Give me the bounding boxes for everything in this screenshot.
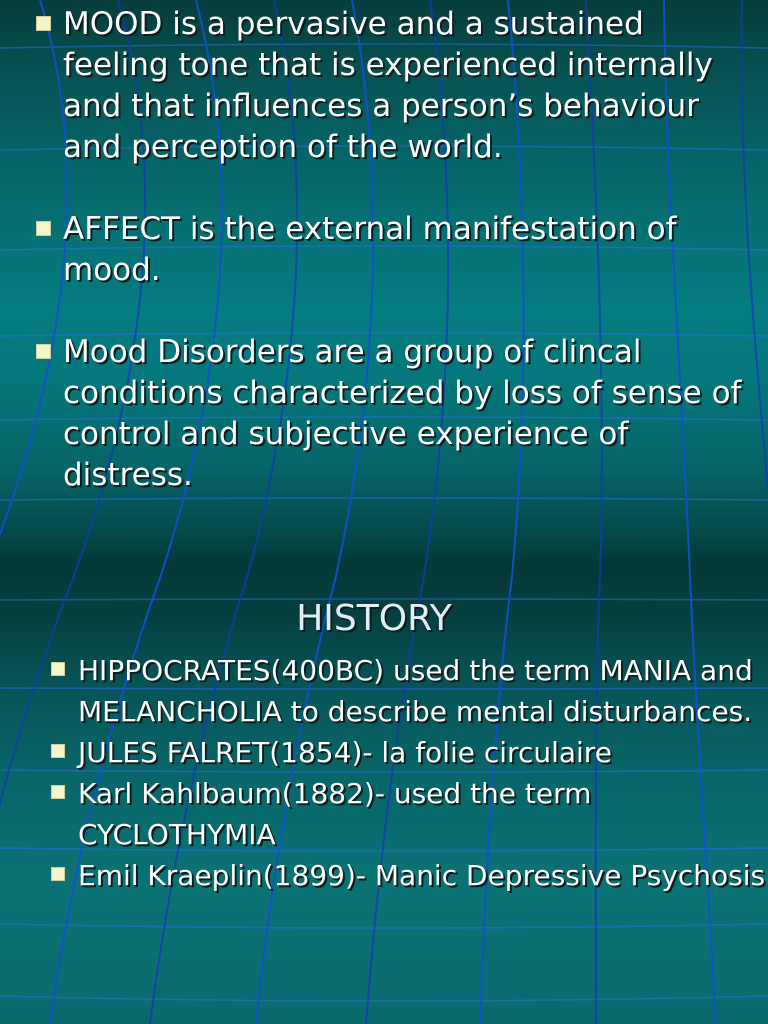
square-bullet-icon <box>51 867 65 881</box>
list-item: Emil Kraeplin(1899)- Manic Depressive Ps… <box>40 855 768 896</box>
definitions-bullet-list: MOOD is a pervasive and a sustained feel… <box>26 4 752 496</box>
square-bullet-icon <box>36 344 51 359</box>
list-item: MOOD is a pervasive and a sustained feel… <box>26 4 752 168</box>
history-block: HISTORY HIPPOCRATES(400BC) used the term… <box>0 596 768 896</box>
square-bullet-icon <box>51 785 65 799</box>
list-item: AFFECT is the external manifestation of … <box>26 209 752 291</box>
page-title: HISTORY <box>0 596 768 642</box>
bullet-text: AFFECT is the external manifestation of … <box>63 209 752 291</box>
square-bullet-icon <box>51 744 65 758</box>
list-item: Karl Kahlbaum(1882)- used the term CYCLO… <box>40 773 768 855</box>
bullet-text: Mood Disorders are a group of clincal co… <box>63 332 752 496</box>
bullet-text: MOOD is a pervasive and a sustained feel… <box>63 4 752 168</box>
square-bullet-icon <box>51 662 65 676</box>
slide-content: MOOD is a pervasive and a sustained feel… <box>0 0 768 1024</box>
list-item: JULES FALRET(1854)- la folie circulaire <box>40 732 768 773</box>
paragraph-spacer <box>26 291 752 332</box>
paragraph-spacer <box>26 168 752 209</box>
list-item: Mood Disorders are a group of clincal co… <box>26 332 752 496</box>
history-bullet-list: HIPPOCRATES(400BC) used the term MANIA a… <box>0 650 768 896</box>
bullet-text: HIPPOCRATES(400BC) used the term MANIA a… <box>78 650 768 732</box>
square-bullet-icon <box>36 221 51 236</box>
square-bullet-icon <box>36 16 51 31</box>
definitions-block: MOOD is a pervasive and a sustained feel… <box>26 4 752 496</box>
bullet-text: Emil Kraeplin(1899)- Manic Depressive Ps… <box>78 855 768 896</box>
bullet-text: JULES FALRET(1854)- la folie circulaire <box>78 732 768 773</box>
bullet-text: Karl Kahlbaum(1882)- used the term CYCLO… <box>78 773 768 855</box>
history-bullets-wrap: HIPPOCRATES(400BC) used the term MANIA a… <box>0 650 768 896</box>
presentation-slide: MOOD is a pervasive and a sustained feel… <box>0 0 768 1024</box>
list-item: HIPPOCRATES(400BC) used the term MANIA a… <box>40 650 768 732</box>
